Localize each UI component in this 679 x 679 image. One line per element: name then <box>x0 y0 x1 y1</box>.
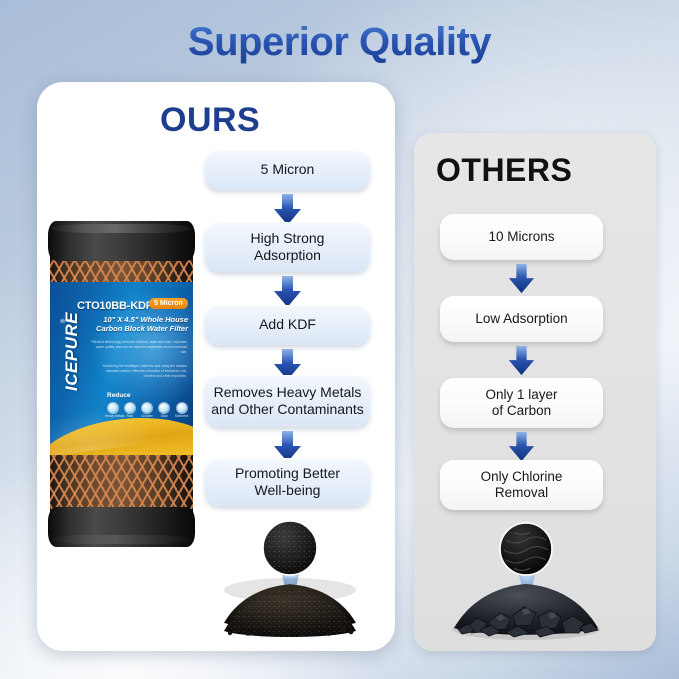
reduce-item-label: Heavy Metals <box>105 414 120 418</box>
reduce-item-label: Chlorine <box>140 414 155 418</box>
chlorine-icon <box>142 403 152 413</box>
cartridge-label: ICEPURE ® CTO10BB-KDF 5 Micron 10" X 4.5… <box>50 282 193 455</box>
rust-icon <box>125 403 135 413</box>
others-step-1: 10 Microns <box>440 214 603 260</box>
reduce-item-label: Sediment <box>174 414 189 418</box>
page-title: Superior Quality <box>0 20 679 65</box>
ours-step-5: Promoting BetterWell-being <box>205 458 370 506</box>
product-fineprint-1: Filtration technology removes chlorine, … <box>90 340 187 355</box>
others-step-3: Only 1 layerof Carbon <box>440 378 603 428</box>
reduce-item: Rust <box>122 403 137 418</box>
reduce-item: Heavy Metals <box>105 403 120 418</box>
ours-step-2: High StrongAdsorption <box>205 222 370 272</box>
reduce-icon-row: Heavy Metals Rust Chlorine Odor Sediment <box>105 403 189 418</box>
reduce-item: Odor <box>157 403 172 418</box>
ours-step-1: 5 Micron <box>205 150 370 190</box>
reduce-item: Sediment <box>174 403 189 418</box>
ours-step-4: Removes Heavy Metalsand Other Contaminan… <box>205 375 370 427</box>
heavy-metals-icon <box>108 403 118 413</box>
reduce-item-label: Odor <box>157 414 172 418</box>
product-description: 10" X 4.5" Whole HouseCarbon Block Water… <box>88 315 188 334</box>
product-model: CTO10BB-KDF <box>77 300 152 312</box>
ours-heading: OURS <box>160 101 260 140</box>
arrow-down-icon <box>271 276 304 308</box>
sediment-icon <box>177 403 187 413</box>
ours-carbon-illustration <box>203 520 378 645</box>
label-gold-swoosh <box>50 409 193 455</box>
micron-badge: 5 Micron <box>149 298 188 309</box>
arrow-down-icon <box>506 264 537 294</box>
odor-icon <box>159 403 169 413</box>
others-step-2: Low Adsorption <box>440 296 603 342</box>
registered-trademark-icon: ® <box>61 319 67 323</box>
reduce-item-label: Rust <box>122 414 137 418</box>
product-fineprint-2: Screening the multilayer materials and u… <box>98 364 187 379</box>
others-carbon-illustration <box>444 522 609 642</box>
arrow-down-icon <box>506 346 537 376</box>
reduce-item: Chlorine <box>140 403 155 418</box>
ours-step-3: Add KDF <box>205 305 370 345</box>
cartridge-top-cap <box>48 221 195 261</box>
cartridge-bottom-cap <box>48 507 195 547</box>
others-step-4: Only ChlorineRemoval <box>440 460 603 510</box>
others-heading: OTHERS <box>436 152 572 189</box>
water-filter-cartridge-image: ICEPURE ® CTO10BB-KDF 5 Micron 10" X 4.5… <box>50 225 193 543</box>
reduce-section-title: Reduce <box>107 392 130 399</box>
arrow-down-icon <box>506 432 537 462</box>
